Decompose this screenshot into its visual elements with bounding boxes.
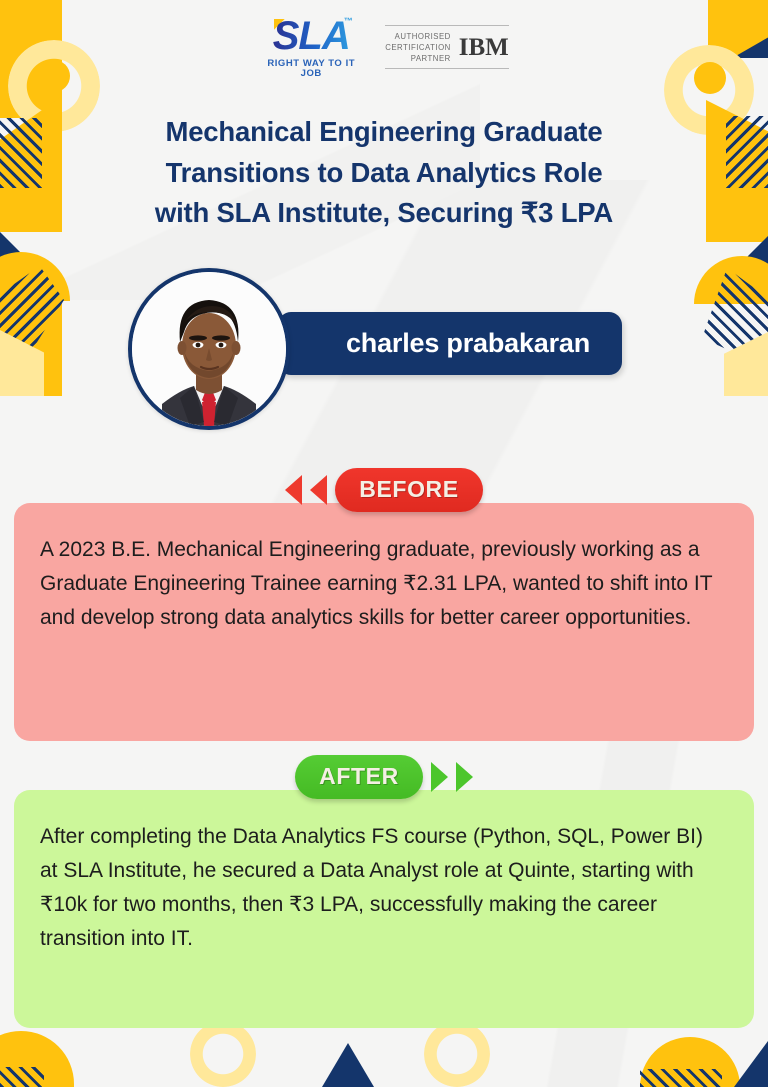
deco-top-left-angled-yellow [0, 96, 62, 232]
deco-bottom-ring-left [190, 1021, 256, 1087]
before-card: A 2023 B.E. Mechanical Engineering gradu… [14, 503, 754, 741]
ibm-partner-line2: CERTIFICATION [385, 42, 451, 53]
after-badge: AFTER [295, 755, 423, 799]
deco-bottom-left-yellow-halfcircle [0, 1031, 74, 1087]
deco-right-light-yellow-block [724, 332, 768, 396]
deco-right-navy-triangle-mid [736, 236, 768, 268]
avatar [128, 268, 290, 430]
ibm-wordmark: IBM [459, 34, 509, 62]
sla-tagline: RIGHT WAY TO IT JOB [259, 59, 363, 78]
before-arrow-icon-2 [310, 475, 327, 505]
deco-bottom-ring-right [424, 1021, 490, 1087]
deco-bottom-right-yellow-halfcircle [640, 1037, 740, 1087]
trademark-icon: ™ [344, 17, 353, 26]
person-name-banner: charles prabakaran [278, 312, 622, 375]
after-arrow-icon-1 [431, 762, 448, 792]
sla-wordmark: SLA [273, 16, 350, 56]
page-title-line-3: with SLA Institute, Securing ₹3 LPA [64, 193, 704, 234]
ibm-partner-line1: AUTHORISED [385, 31, 451, 42]
deco-top-right-stripes [726, 116, 768, 188]
deco-left-navy-triangle-mid [0, 232, 34, 266]
after-arrow-icon-2 [456, 762, 473, 792]
deco-bottom-navy-triangle-center [322, 1043, 374, 1087]
ibm-partner-line3: PARTNER [385, 53, 451, 64]
deco-bottom-right-stripes [640, 1069, 722, 1087]
before-badge-row: BEFORE [0, 468, 768, 512]
person-name: charles prabakaran [310, 328, 590, 359]
avatar-photo [132, 272, 286, 426]
page-title-line-2: Transitions to Data Analytics Role [64, 153, 704, 194]
deco-top-left-stripes [0, 118, 42, 188]
after-body-text: After completing the Data Analytics FS c… [40, 825, 703, 950]
before-body-text: A 2023 B.E. Mechanical Engineering gradu… [40, 538, 712, 629]
header-logo-row: SLA ™ RIGHT WAY TO IT JOB AUTHORISED CER… [0, 16, 768, 78]
after-card: After completing the Data Analytics FS c… [14, 790, 754, 1028]
deco-bottom-left-stripes [0, 1067, 44, 1087]
poster-canvas: SLA ™ RIGHT WAY TO IT JOB AUTHORISED CER… [0, 0, 768, 1087]
deco-top-right-angled-yellow [706, 100, 768, 242]
deco-top-left-yellow-bar-lower [0, 300, 62, 396]
ibm-partner-words: AUTHORISED CERTIFICATION PARTNER [385, 31, 451, 64]
deco-bottom-right-navy-triangle [734, 1041, 768, 1087]
page-title-line-1: Mechanical Engineering Graduate [64, 112, 704, 153]
before-badge: BEFORE [335, 468, 482, 512]
deco-right-yellow-halfcircle [694, 256, 768, 304]
deco-left-yellow-halfcircle [0, 252, 70, 301]
before-arrow-icon-1 [285, 475, 302, 505]
person-row: charles prabakaran [128, 268, 648, 428]
deco-right-diagonal-stripes [702, 268, 768, 368]
ibm-partner-badge: AUTHORISED CERTIFICATION PARTNER IBM [385, 25, 509, 69]
deco-left-diagonal-stripes [0, 266, 64, 366]
page-title: Mechanical Engineering Graduate Transiti… [64, 112, 704, 234]
deco-left-light-yellow-block [0, 330, 44, 396]
sla-logo: SLA ™ RIGHT WAY TO IT JOB [259, 16, 363, 78]
after-badge-row: AFTER [0, 755, 768, 799]
